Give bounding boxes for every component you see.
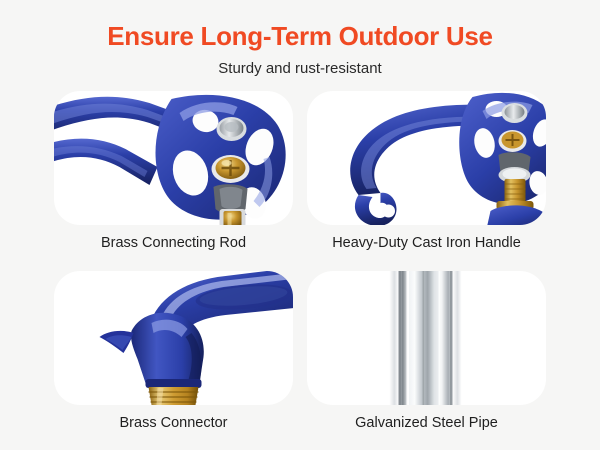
cast-iron-handle-illustration: [307, 91, 546, 225]
galvanized-pipe-illustration: [307, 271, 546, 405]
card-image-cast-iron-handle: [307, 91, 546, 225]
feature-card-cast-iron-handle[interactable]: Heavy-Duty Cast Iron Handle: [307, 91, 546, 265]
feature-card-galvanized-steel-pipe[interactable]: Galvanized Steel Pipe: [307, 271, 546, 445]
card-label-cast-iron-handle: Heavy-Duty Cast Iron Handle: [332, 235, 521, 252]
page-subtitle: Sturdy and rust-resistant: [0, 60, 600, 77]
card-label-brass-connector: Brass Connector: [120, 415, 228, 432]
page-title: Ensure Long-Term Outdoor Use: [0, 22, 600, 51]
feature-grid: Brass Connecting Rod: [54, 91, 546, 445]
product-feature-panel: Ensure Long-Term Outdoor Use Sturdy and …: [0, 0, 600, 450]
card-label-galvanized-steel-pipe: Galvanized Steel Pipe: [355, 415, 498, 432]
card-image-brass-connecting-rod: [54, 91, 293, 225]
feature-card-brass-connector[interactable]: Brass Connector: [54, 271, 293, 445]
faucet-valve-illustration: [54, 91, 293, 225]
card-label-brass-connecting-rod: Brass Connecting Rod: [101, 235, 246, 252]
header: Ensure Long-Term Outdoor Use Sturdy and …: [0, 0, 600, 77]
brass-connector-illustration: [54, 271, 293, 405]
feature-card-brass-connecting-rod[interactable]: Brass Connecting Rod: [54, 91, 293, 265]
card-image-brass-connector: [54, 271, 293, 405]
card-image-galvanized-steel-pipe: [307, 271, 546, 405]
